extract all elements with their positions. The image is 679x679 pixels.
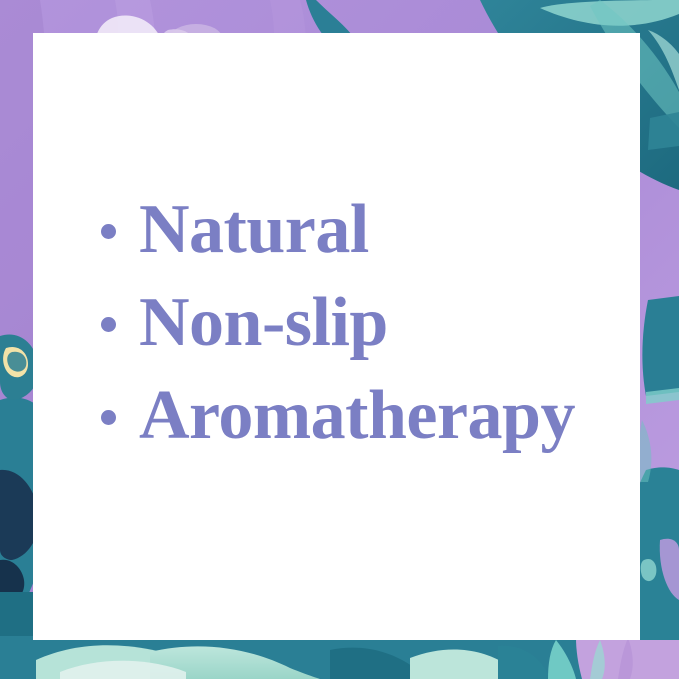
bullet-dot-icon <box>101 317 116 332</box>
list-item: Non-slip <box>100 278 630 371</box>
feature-list: Natural Non-slip Aromatherapy <box>100 185 630 464</box>
bullet-dot-icon <box>101 224 116 239</box>
bg-teal-right-band-2 <box>648 112 679 150</box>
bullet-dot-icon <box>101 410 116 425</box>
feature-label-aromatherapy: Aromatherapy <box>139 381 575 451</box>
list-item: Natural <box>100 185 630 278</box>
feature-label-non-slip: Non-slip <box>139 288 388 358</box>
list-item: Aromatherapy <box>100 371 630 464</box>
product-feature-image: Natural Non-slip Aromatherapy <box>0 0 679 679</box>
bg-teal-right-band <box>642 296 679 396</box>
content-card: Natural Non-slip Aromatherapy <box>33 33 640 640</box>
feature-label-natural: Natural <box>139 195 369 265</box>
